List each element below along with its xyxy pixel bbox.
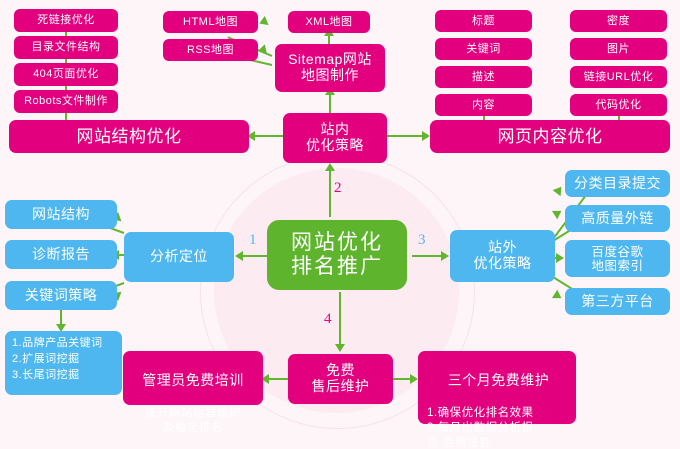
node-code-optimization[interactable]: 代码优化: [570, 94, 667, 116]
node-images[interactable]: 图片: [570, 38, 667, 60]
connector-service-to-training: [268, 378, 288, 380]
arrow-sitemap-to-rss: [257, 44, 267, 56]
seo-mindmap-diagram: 死链接优化 目录文件结构 404页面优化 Robots文件制作 网站结构优化 H…: [0, 0, 680, 449]
node-keyword-density[interactable]: 密度: [570, 10, 667, 32]
maintenance-subtitle: 1.确保优化排名效果 2.每月出数据分析报 告 监测报告: [427, 406, 570, 449]
node-xml-sitemap[interactable]: XML地图: [288, 11, 370, 33]
node-baidu-google-map-index[interactable]: 百度谷歌 地图索引: [565, 240, 670, 277]
node-directory-file-structure[interactable]: 目录文件结构: [14, 36, 118, 59]
branch-number-3: 3: [418, 232, 426, 249]
node-diagnostic-report[interactable]: 诊断报告: [5, 240, 117, 269]
arrow-offsite-to-thirdparty: [552, 290, 564, 303]
node-third-party-platform[interactable]: 第三方平台: [565, 288, 670, 315]
maintenance-title: 三个月免费维护: [427, 373, 570, 389]
arrow-offsite-to-mapindex: [556, 253, 564, 263]
node-offsite-strategy[interactable]: 站外 优化策略: [450, 230, 555, 282]
connector-center-to-onsite: [329, 168, 331, 217]
connector-center-to-offsite: [412, 255, 442, 257]
connector-center-to-service: [339, 292, 341, 344]
arrow-offsite-to-directory: [553, 184, 566, 196]
node-high-quality-backlinks[interactable]: 高质量外链: [565, 205, 670, 232]
arrow-sitemap-to-html: [257, 16, 268, 28]
node-meta-title[interactable]: 标题: [435, 10, 532, 32]
node-meta-content[interactable]: 内容: [435, 94, 532, 116]
connector-onsite-to-sitemap: [329, 92, 331, 114]
node-category-directory-submission[interactable]: 分类目录提交: [565, 170, 670, 197]
node-analysis-position[interactable]: 分析定位: [124, 232, 234, 282]
node-page-content-optimization[interactable]: 网页内容优化: [430, 120, 670, 153]
node-404-page-optimization[interactable]: 404页面优化: [14, 63, 118, 86]
node-three-month-free-maintenance[interactable]: 三个月免费维护 1.确保优化排名效果 2.每月出数据分析报 告 监测报告: [418, 351, 576, 424]
node-onsite-strategy[interactable]: 站内 优化策略: [283, 113, 387, 163]
node-html-sitemap[interactable]: HTML地图: [163, 11, 258, 33]
connector-onsite-to-content: [387, 135, 422, 137]
node-sitemap-creation[interactable]: Sitemap网站 地图制作: [275, 44, 385, 92]
admin-training-subtitle: 提升网站运营维护 及稳定排名: [129, 406, 257, 436]
node-admin-free-training[interactable]: 管理员免费培训 提升网站运营维护 及稳定排名: [123, 351, 263, 405]
node-meta-description[interactable]: 描述: [435, 66, 532, 88]
node-robots-file-creation[interactable]: Robots文件制作: [14, 90, 118, 113]
admin-training-title: 管理员免费培训: [129, 373, 257, 389]
connector-onsite-to-structure: [255, 135, 285, 137]
branch-number-1: 1: [249, 232, 257, 249]
arrow-service-to-maintenance: [410, 374, 418, 384]
node-free-after-sales-service[interactable]: 免费 售后维护: [288, 354, 393, 404]
node-meta-keywords[interactable]: 关键词: [435, 38, 532, 60]
arrow-center-to-service: [335, 344, 345, 352]
arrow-offsite-to-backlinks: [552, 207, 564, 220]
arrow-center-to-offsite: [441, 251, 449, 261]
node-keyword-strategy[interactable]: 关键词策略: [5, 281, 117, 310]
node-rss-sitemap[interactable]: RSS地图: [163, 39, 258, 61]
branch-number-2: 2: [334, 180, 342, 197]
node-dead-link-optimization[interactable]: 死链接优化: [14, 9, 118, 32]
connector-service-to-maintenance: [393, 378, 411, 380]
arrow-center-to-analysis: [235, 251, 243, 261]
branch-number-4: 4: [324, 311, 332, 328]
arrow-center-to-onsite: [325, 163, 335, 171]
node-site-structure-optimization[interactable]: 网站结构优化: [9, 120, 249, 153]
node-center-website-optimization[interactable]: 网站优化 排名推广: [267, 220, 407, 290]
node-keyword-list[interactable]: 1.品牌产品关键词 2.扩展词挖掘 3.长尾词挖掘: [5, 331, 122, 395]
node-website-structure[interactable]: 网站结构: [5, 200, 117, 229]
arrow-onsite-to-content: [422, 131, 430, 141]
node-link-url-optimization[interactable]: 链接URL优化: [570, 66, 667, 88]
